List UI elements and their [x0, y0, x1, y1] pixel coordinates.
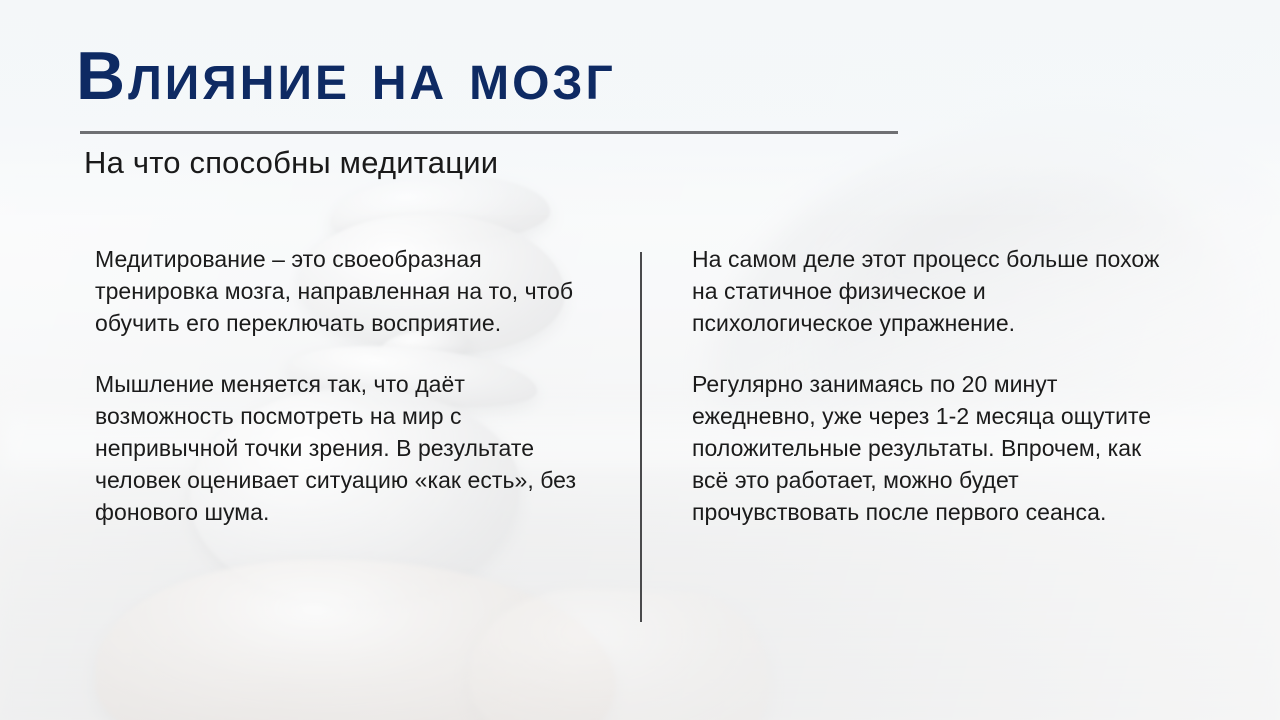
presentation-slide: Влияние на мозг На что способны медитаци…: [0, 0, 1280, 720]
left-paragraph-1: Медитирование – это своеобразная трениро…: [95, 243, 585, 340]
slide-subtitle: На что способны медитации: [84, 144, 498, 183]
left-paragraph-2: Мышление меняется так, что даёт возможно…: [95, 368, 585, 529]
column-divider: [640, 252, 642, 622]
right-paragraph-1: На самом деле этот процесс больше похож …: [692, 243, 1162, 340]
slide-content: Влияние на мозг На что способны медитаци…: [0, 0, 1280, 720]
right-text-column: На самом деле этот процесс больше похож …: [692, 243, 1162, 529]
left-text-column: Медитирование – это своеобразная трениро…: [95, 243, 585, 529]
right-paragraph-2: Регулярно занимаясь по 20 минут ежедневн…: [692, 368, 1162, 529]
slide-title: Влияние на мозг: [76, 42, 616, 110]
title-underline-rule: [80, 131, 898, 134]
